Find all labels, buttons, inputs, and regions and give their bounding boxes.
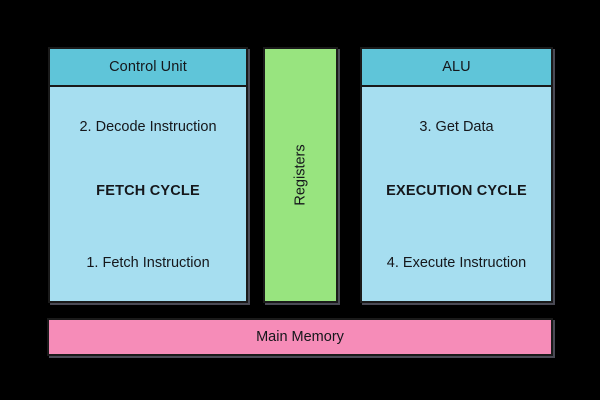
control-unit-step-decode: 2. Decode Instruction <box>50 119 246 135</box>
execution-cycle-label: EXECUTION CYCLE <box>362 183 551 199</box>
control-unit-body: 2. Decode Instruction FETCH CYCLE 1. Fet… <box>50 87 246 301</box>
alu-body: 3. Get Data EXECUTION CYCLE 4. Execute I… <box>362 87 551 301</box>
fetch-cycle-label: FETCH CYCLE <box>50 183 246 199</box>
main-memory-label: Main Memory <box>256 329 344 345</box>
control-unit-header: Control Unit <box>50 49 246 87</box>
alu-header: ALU <box>362 49 551 87</box>
control-unit-step-fetch: 1. Fetch Instruction <box>50 255 246 271</box>
alu-step-get-data: 3. Get Data <box>362 119 551 135</box>
control-unit-block: Control Unit 2. Decode Instruction FETCH… <box>48 47 248 303</box>
diagram-canvas: Control Unit 2. Decode Instruction FETCH… <box>0 0 600 400</box>
alu-step-execute: 4. Execute Instruction <box>362 255 551 271</box>
main-memory-block: Main Memory <box>47 318 553 356</box>
alu-block: ALU 3. Get Data EXECUTION CYCLE 4. Execu… <box>360 47 553 303</box>
registers-label: Registers <box>293 144 309 205</box>
registers-block: Registers <box>263 47 338 303</box>
